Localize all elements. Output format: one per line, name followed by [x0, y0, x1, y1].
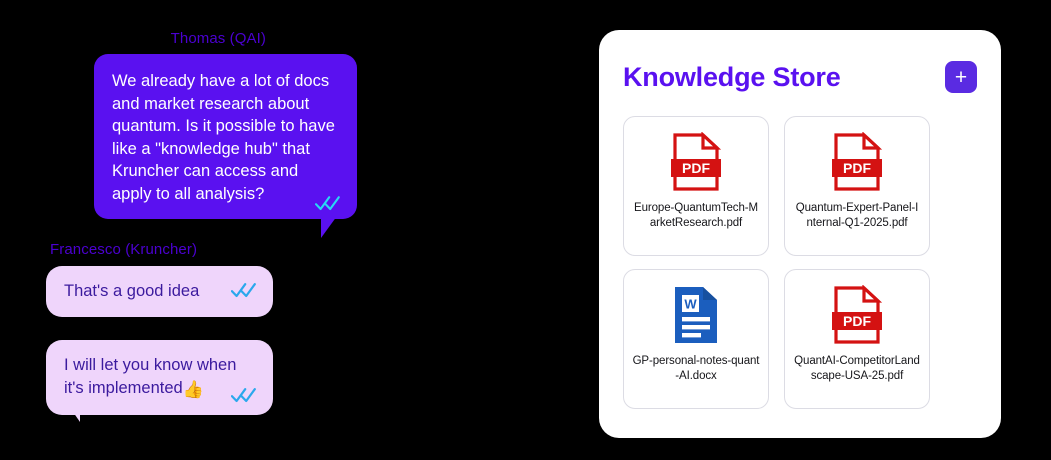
double-check-icon: [315, 195, 341, 211]
document-name: QuantAI-CompetitorLandscape-USA-25.pdf: [793, 354, 921, 384]
thumbs-up-icon: 👍: [183, 380, 204, 399]
chat-conversation: Thomas (QAI) We already have a lot of do…: [0, 0, 580, 460]
svg-text:PDF: PDF: [843, 313, 871, 329]
document-name: Quantum-Expert-Panel-Internal-Q1-2025.pd…: [793, 201, 921, 231]
message-text: That's a good idea: [64, 280, 255, 303]
add-document-button[interactable]: +: [945, 61, 977, 93]
page-title: Knowledge Store: [623, 62, 841, 93]
double-check-icon: [231, 282, 257, 298]
message-bubble-incoming[interactable]: I will let you know when it's implemente…: [46, 340, 273, 415]
pdf-file-icon: PDF: [832, 284, 882, 346]
bubble-tail-outgoing: [321, 216, 337, 238]
document-card[interactable]: PDF Quantum-Expert-Panel-Internal-Q1-202…: [784, 116, 930, 256]
message-bubble-incoming[interactable]: That's a good idea: [46, 266, 273, 317]
sender-label-thomas: Thomas (QAI): [171, 30, 266, 47]
message-text-body: I will let you know when it's implemente…: [64, 356, 236, 397]
pdf-file-icon: PDF: [671, 131, 721, 193]
bubble-tail-incoming: [62, 396, 80, 422]
document-grid: PDF Europe-QuantumTech-MarketResearch.pd…: [623, 116, 977, 409]
panel-header: Knowledge Store +: [623, 56, 977, 98]
document-card[interactable]: PDF QuantAI-CompetitorLandscape-USA-25.p…: [784, 269, 930, 409]
pdf-file-icon: PDF: [832, 131, 882, 193]
message-bubble-outgoing[interactable]: We already have a lot of docs and market…: [94, 54, 357, 219]
document-name: Europe-QuantumTech-MarketResearch.pdf: [632, 201, 760, 231]
word-file-icon: W: [673, 284, 719, 346]
message-text: We already have a lot of docs and market…: [112, 70, 339, 205]
double-check-icon: [231, 387, 257, 403]
sender-label-francesco: Francesco (Kruncher): [50, 241, 197, 258]
svg-text:W: W: [684, 297, 697, 312]
document-card[interactable]: PDF Europe-QuantumTech-MarketResearch.pd…: [623, 116, 769, 256]
svg-text:PDF: PDF: [843, 160, 871, 176]
document-name: GP-personal-notes-quant-AI.docx: [632, 354, 760, 384]
message-text: I will let you know when it's implemente…: [64, 354, 255, 401]
knowledge-store-panel: Knowledge Store + PDF Europe-QuantumTech…: [599, 30, 1001, 438]
svg-text:PDF: PDF: [682, 160, 710, 176]
document-card[interactable]: W GP-personal-notes-quant-AI.docx: [623, 269, 769, 409]
